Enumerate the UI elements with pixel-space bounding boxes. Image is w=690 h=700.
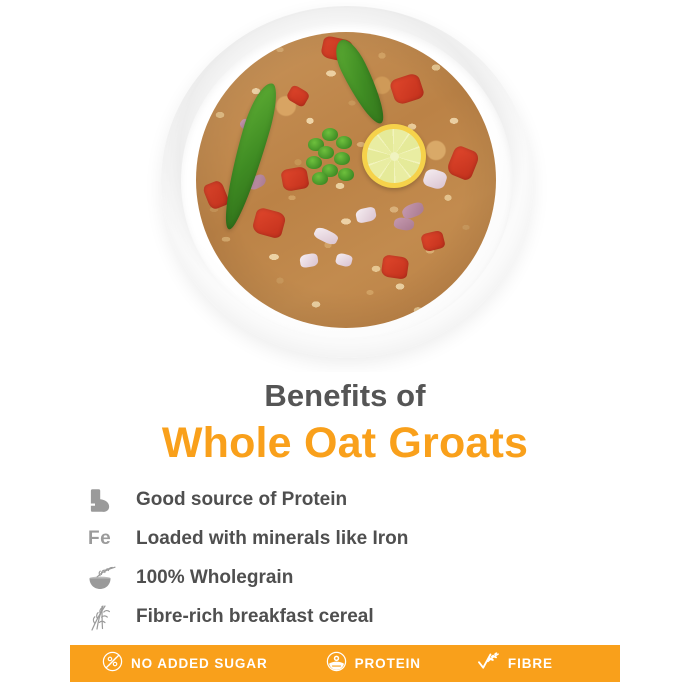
fibre-icon xyxy=(477,650,500,677)
list-item-label: 100% Wholegrain xyxy=(136,567,293,589)
oat-groats-bowl-photo xyxy=(161,6,533,358)
iron-symbol-icon: Fe xyxy=(88,528,136,550)
no-sugar-icon xyxy=(102,651,123,677)
tomato-piece xyxy=(381,254,410,279)
product-benefits-poster: Benefits of Whole Oat Groats Good source… xyxy=(0,0,690,700)
list-item: 100% Wholegrain xyxy=(88,558,608,597)
lemon-core xyxy=(390,152,399,161)
badge-label: FIBRE xyxy=(508,656,553,671)
hero-image xyxy=(0,0,690,372)
badge-no-added-sugar: NO ADDED SUGAR xyxy=(102,651,268,677)
grain-bowl-icon xyxy=(88,565,136,591)
list-item: Fe Loaded with minerals like Iron xyxy=(88,519,608,558)
badge-protein: PROTEIN xyxy=(326,651,421,677)
heading-block: Benefits of Whole Oat Groats xyxy=(0,378,690,468)
list-item-label: Good source of Protein xyxy=(136,489,347,511)
benefits-list: Good source of Protein Fe Loaded with mi… xyxy=(88,480,608,636)
muscle-icon xyxy=(88,488,136,512)
badge-fibre: FIBRE xyxy=(477,650,553,677)
page-title-line1: Benefits of xyxy=(0,378,690,415)
badge-label: PROTEIN xyxy=(355,656,421,671)
wheat-icon xyxy=(88,603,136,631)
list-item: Good source of Protein xyxy=(88,480,608,519)
protein-icon xyxy=(326,651,347,677)
parsley-sprig xyxy=(304,128,362,186)
lemon-slice xyxy=(362,124,426,188)
list-item: Fibre-rich breakfast cereal xyxy=(88,597,608,636)
list-item-label: Fibre-rich breakfast cereal xyxy=(136,606,374,628)
bowl-food-contents xyxy=(196,32,496,328)
page-title-line2: Whole Oat Groats xyxy=(0,418,690,469)
badge-label: NO ADDED SUGAR xyxy=(131,656,268,671)
feature-badge-bar: NO ADDED SUGAR PROTEIN xyxy=(70,645,620,682)
list-item-label: Loaded with minerals like Iron xyxy=(136,528,408,550)
